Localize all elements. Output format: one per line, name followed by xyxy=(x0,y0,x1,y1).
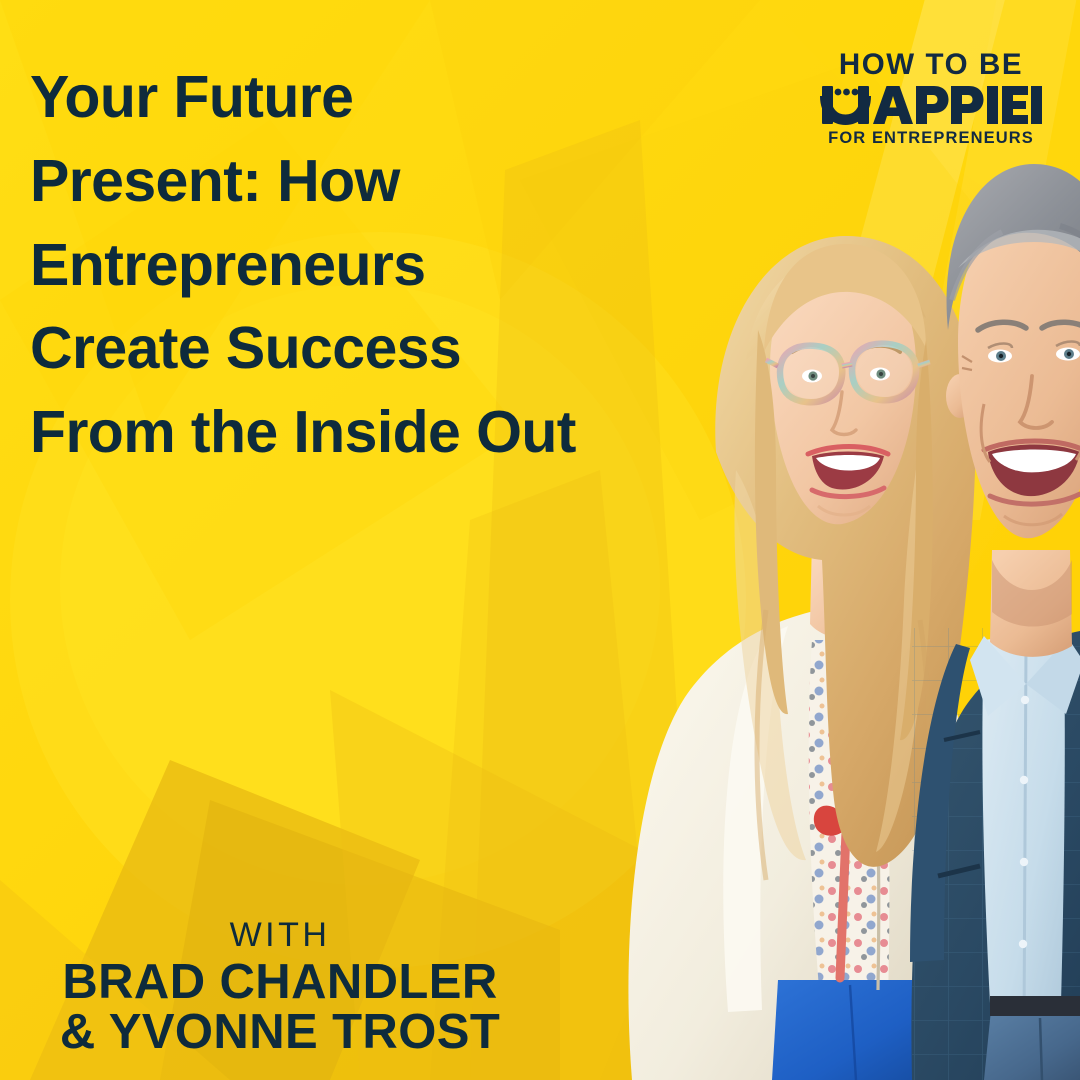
smiley-face-h-icon xyxy=(820,82,1042,126)
hosts-with-label: WITH xyxy=(0,918,560,954)
episode-title: Your Future Present: How Entrepreneurs C… xyxy=(30,56,590,475)
podcast-logo: HOW TO BE xyxy=(820,50,1042,146)
hosts-photo xyxy=(540,0,1080,1080)
logo-line-for-entrepreneurs: FOR ENTREPRENEURS xyxy=(820,130,1042,147)
podcast-episode-cover: HOW TO BE xyxy=(0,0,1080,1080)
hosts-credit: WITH BRAD CHANDLER & YVONNE TROST xyxy=(0,918,560,1059)
hosts-photo-illustration xyxy=(540,0,1080,1080)
host-name-secondary: & YVONNE TROST xyxy=(0,1006,560,1058)
host-name-primary: BRAD CHANDLER xyxy=(0,956,560,1008)
logo-line-how-to-be: HOW TO BE xyxy=(820,50,1042,80)
logo-happier-wordmark xyxy=(820,82,1042,126)
